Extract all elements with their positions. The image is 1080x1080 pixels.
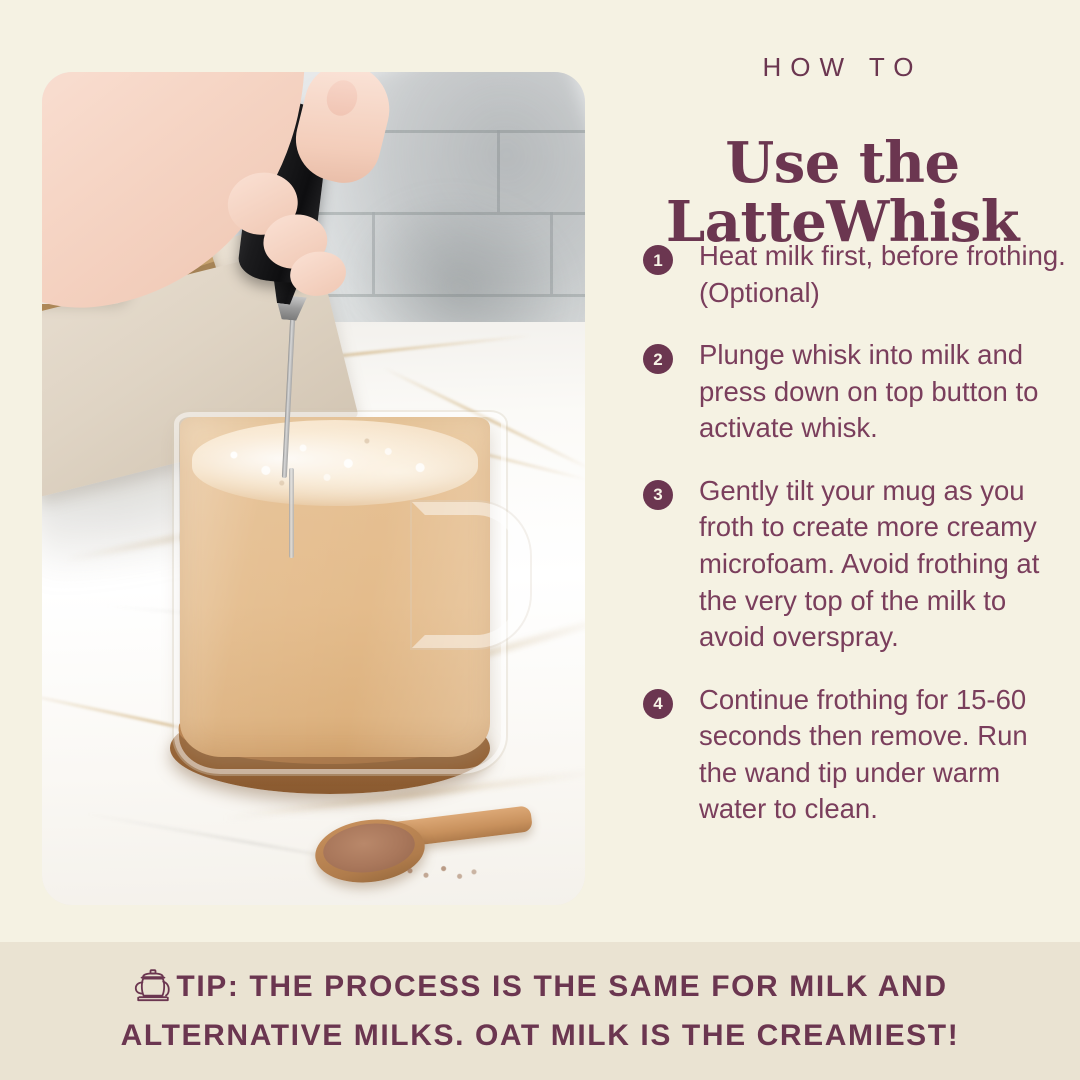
whisk-shaft-lower	[289, 468, 294, 558]
mug-handle	[412, 502, 530, 648]
step-number-badge: 1	[643, 245, 673, 275]
list-item: 3 Gently tilt your mug as you froth to c…	[643, 473, 1073, 656]
tip-banner-content: TIP: THE PROCESS IS THE SAME FOR MILK AN…	[50, 967, 1030, 1055]
step-text: Gently tilt your mug as you froth to cre…	[699, 475, 1047, 652]
step-text: Plunge whisk into milk and press down on…	[699, 339, 1046, 443]
tip-text: TIP: THE PROCESS IS THE SAME FOR MILK AN…	[121, 970, 960, 1052]
list-item: 2 Plunge whisk into milk and press down …	[643, 337, 1073, 447]
poster-canvas: HOW TO Use the LatteWhisk 1 Heat milk fi…	[0, 0, 1080, 1080]
teapot-icon	[132, 967, 174, 1016]
tip-banner: TIP: THE PROCESS IS THE SAME FOR MILK AN…	[0, 942, 1080, 1080]
step-text: Heat milk first, before frothing. (Optio…	[699, 240, 1080, 308]
step-number-badge: 4	[643, 689, 673, 719]
page-title: Use the LatteWhisk	[605, 134, 1080, 253]
list-item: 4 Continue frothing for 15-60 seconds th…	[643, 682, 1073, 828]
instructions-panel: HOW TO Use the LatteWhisk 1 Heat milk fi…	[605, 0, 1080, 942]
hero-photo	[42, 72, 585, 905]
list-item: 1 Heat milk first, before frothing. (Opt…	[643, 238, 1073, 311]
kicker-label: HOW TO	[605, 52, 1080, 83]
title-line-1: Use the	[605, 134, 1080, 193]
step-list: 1 Heat milk first, before frothing. (Opt…	[643, 238, 1073, 854]
step-number-badge: 2	[643, 344, 673, 374]
step-text: Continue frothing for 15-60 seconds then…	[699, 684, 1035, 825]
step-number-badge: 3	[643, 480, 673, 510]
spice-scatter	[402, 862, 482, 884]
